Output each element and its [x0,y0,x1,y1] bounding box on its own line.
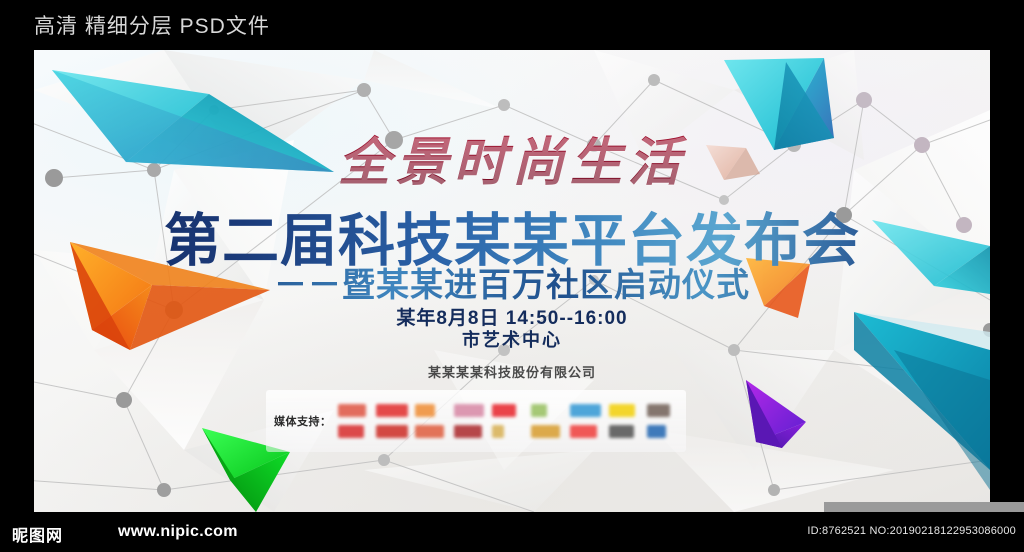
media-logo-grid [338,402,687,440]
logo-11 [376,425,407,438]
image-id-text: ID:8762521 NO:20190218122953086000 [807,525,1016,537]
logo-14 [492,425,503,438]
logo-18 [647,425,665,438]
logo-16 [570,425,597,438]
poster-artwork: 全景时尚生活 第二届科技某某平台发布会 －－暨某某进百万社区启动仪式 某年8月8… [34,50,990,512]
logo-6 [531,404,547,417]
logo-7 [570,404,601,417]
logo-10 [338,425,365,438]
logo-2 [376,404,407,417]
logo-13 [454,425,482,438]
organizer-company: 某某某某科技股份有限公司 [34,362,990,381]
nipic-logo-text: 昵图网 [12,522,63,546]
logo-12 [415,425,444,438]
logo-9 [647,404,670,417]
calligraphy-headline: 全景时尚生活 [34,120,990,195]
nipic-url-text[interactable]: www.nipic.com [118,523,238,541]
logo-1 [338,404,367,417]
logo-8 [609,404,636,417]
top-watermark-bar: 高清 精细分层 PSD文件 [0,0,1024,50]
psd-description-text: 高清 精细分层 PSD文件 [34,10,270,40]
logo-15 [531,425,560,438]
event-venue: 市艺术中心 [34,326,990,352]
gray-slab-decor [824,502,1024,512]
event-subtitle: －－暨某某进百万社区启动仪式 [34,258,990,306]
logo-4 [454,404,484,417]
logo-5 [492,404,516,417]
logo-3 [415,404,435,417]
bottom-watermark-bar: 昵图网 www.nipic.com ID:8762521 NO:20190218… [0,512,1024,552]
screenshot-root: 高清 精细分层 PSD文件 [0,0,1024,552]
media-support-label: 媒体支持： [274,413,332,429]
media-support-strip: 媒体支持： [266,390,686,452]
logo-17 [609,425,635,438]
